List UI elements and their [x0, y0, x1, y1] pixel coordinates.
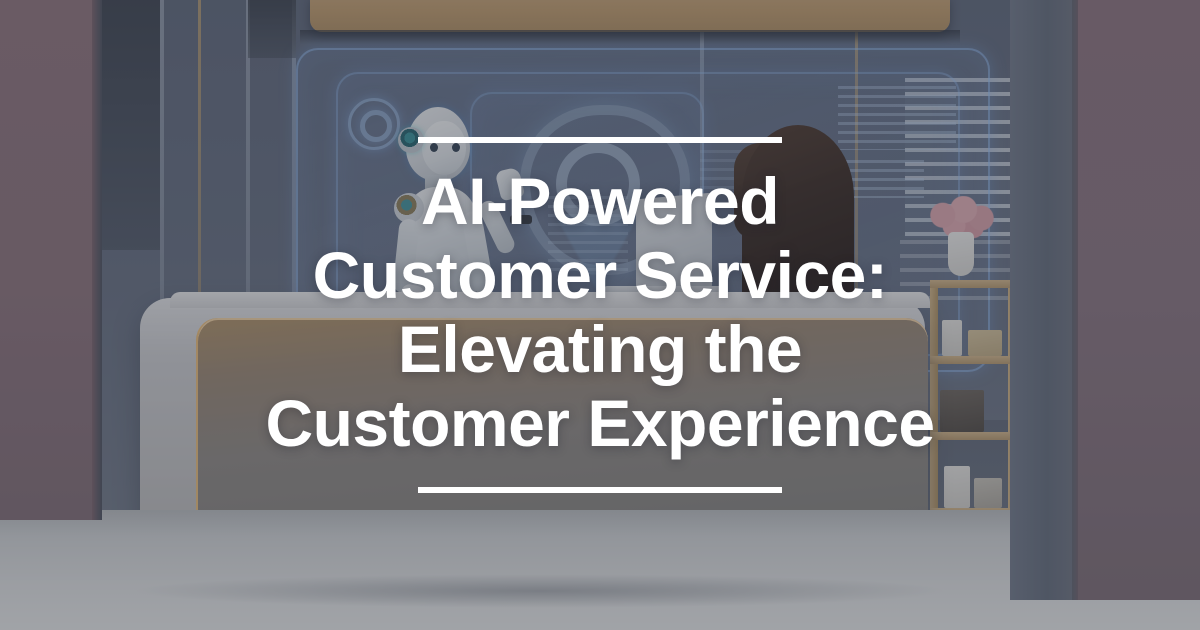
top-divider-rule	[418, 137, 782, 143]
title-line-2: Customer Service:	[265, 239, 934, 313]
title-line-3: Elevating the	[265, 313, 934, 387]
banner-content: AI-Powered Customer Service: Elevating t…	[0, 0, 1200, 630]
title-line-4: Customer Experience	[265, 387, 934, 461]
banner-title: AI-Powered Customer Service: Elevating t…	[265, 165, 934, 461]
bottom-divider-rule	[418, 487, 782, 493]
title-line-1: AI-Powered	[265, 165, 934, 239]
hero-banner: AI-Powered Customer Service: Elevating t…	[0, 0, 1200, 630]
